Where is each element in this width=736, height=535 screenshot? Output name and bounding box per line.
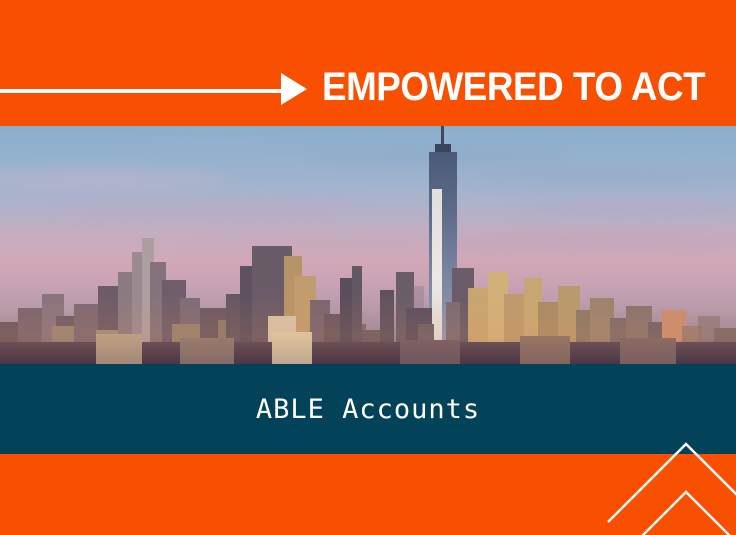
right-arrow-icon bbox=[0, 87, 307, 93]
building bbox=[272, 332, 312, 364]
building bbox=[180, 338, 234, 364]
city-skyline bbox=[0, 234, 736, 364]
building bbox=[620, 338, 676, 364]
building bbox=[520, 336, 570, 364]
building bbox=[96, 334, 142, 364]
arrow-shaft bbox=[0, 89, 285, 93]
cloud-5 bbox=[520, 202, 736, 216]
hero-photo bbox=[0, 126, 736, 364]
caption-band: ABLE Accounts bbox=[0, 364, 736, 454]
cloud-2 bbox=[60, 200, 360, 213]
building bbox=[400, 340, 460, 364]
page-title: EMPOWERED TO ACT bbox=[322, 64, 703, 110]
caption-title: ABLE Accounts bbox=[0, 364, 736, 454]
header-band: EMPOWERED TO ACT bbox=[0, 0, 736, 126]
slide-canvas: EMPOWERED TO ACT bbox=[0, 0, 736, 535]
footer-band bbox=[0, 454, 736, 535]
arrow-head bbox=[281, 73, 307, 105]
cloud-9 bbox=[100, 134, 320, 146]
